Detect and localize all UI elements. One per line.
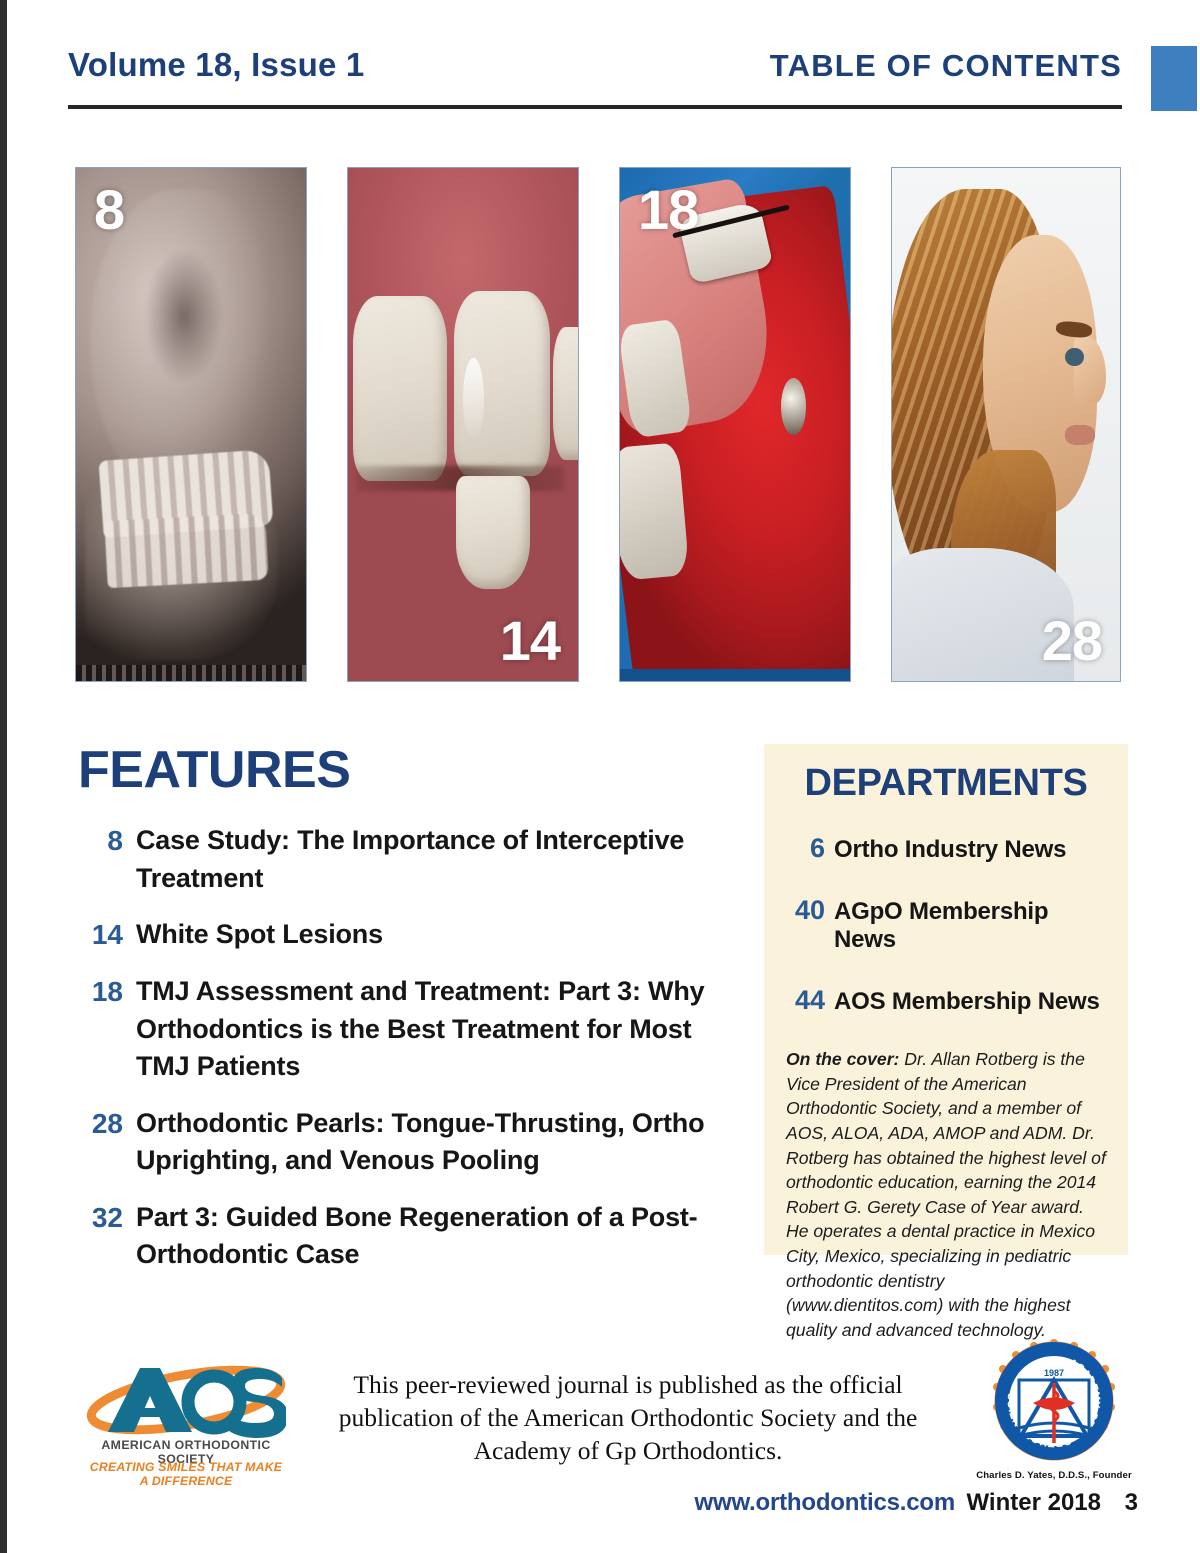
departments-list-item[interactable]: 6 Ortho Industry News	[786, 833, 1106, 864]
publication-statement: This peer-reviewed journal is published …	[296, 1368, 960, 1467]
website-link[interactable]: www.orthodontics.com	[695, 1489, 955, 1517]
feature-page-number: 32	[78, 1199, 136, 1237]
features-list-item[interactable]: 8 Case Study: The Importance of Intercep…	[78, 822, 738, 897]
mini-implant-screw	[781, 378, 806, 434]
department-page-number: 6	[786, 833, 834, 864]
page-bleed-strip	[0, 0, 7, 1553]
department-title: Ortho Industry News	[834, 836, 1066, 864]
feature-page-number: 8	[78, 822, 136, 860]
feature-title: Orthodontic Pearls: Tongue-Thrusting, Or…	[136, 1105, 738, 1180]
thumbnail-page-number: 28	[1042, 613, 1102, 669]
page-header: Volume 18, Issue 1 TABLE OF CONTENTS	[68, 46, 1122, 108]
features-section: FEATURES 8 Case Study: The Importance of…	[78, 744, 738, 1293]
thumbnail-tmj-intraoral-bracket[interactable]: 18	[619, 167, 851, 682]
thumbnail-patient-profile-portrait[interactable]: 28	[891, 167, 1121, 682]
agpo-founder-line: Charles D. Yates, D.D.S., Founder	[975, 1470, 1133, 1481]
tooth-lower	[456, 476, 530, 589]
department-page-number: 40	[786, 895, 834, 926]
issue-label: Volume 18, Issue 1	[68, 46, 364, 84]
page-title: TABLE OF CONTENTS	[770, 48, 1122, 84]
departments-list-item[interactable]: 44 AOS Membership News	[786, 985, 1106, 1016]
feature-page-number: 14	[78, 916, 136, 954]
feature-page-number: 18	[78, 973, 136, 1011]
feature-title: TMJ Assessment and Treatment: Part 3: Wh…	[136, 973, 738, 1086]
thumbnail-white-spot-lesion-teeth[interactable]: 14	[347, 167, 579, 682]
thumbnail-strip: 8 14 18 28	[75, 167, 1121, 682]
feature-title: Case Study: The Importance of Intercepti…	[136, 822, 738, 897]
thumbnail-page-number: 18	[638, 182, 698, 238]
departments-panel: DEPARTMENTS 6 Ortho Industry News 40 AGp…	[764, 744, 1128, 1255]
thumbnail-page-number: 14	[500, 613, 560, 669]
tooth-upper-left	[353, 296, 447, 481]
feature-page-number: 28	[78, 1105, 136, 1143]
feature-title: Part 3: Guided Bone Regeneration of a Po…	[136, 1199, 738, 1274]
agpo-logo[interactable]: ACADEMY OF Gp ORTHODONTICS 1987 Charles …	[975, 1339, 1133, 1481]
agpo-seal-icon: ACADEMY OF Gp ORTHODONTICS 1987	[975, 1339, 1133, 1467]
header-accent-square	[1151, 46, 1197, 111]
radiograph-scale-strip	[76, 665, 306, 681]
eye	[1065, 348, 1083, 366]
features-list-item[interactable]: 28 Orthodontic Pearls: Tongue-Thrusting,…	[78, 1105, 738, 1180]
issue-date: Winter 2018	[966, 1489, 1101, 1517]
aos-tagline: CREATING SMILES THAT MAKE A DIFFERENCE	[86, 1460, 286, 1488]
features-list-item[interactable]: 32 Part 3: Guided Bone Regeneration of a…	[78, 1199, 738, 1274]
footer-bar: www.orthodontics.com Winter 2018 3	[0, 1489, 1200, 1529]
tooth-highlight	[463, 358, 484, 440]
page-number: 3	[1125, 1489, 1138, 1517]
cover-note-body: Dr. Allan Rotberg is the Vice President …	[786, 1049, 1106, 1340]
features-list-item[interactable]: 14 White Spot Lesions	[78, 916, 738, 954]
cover-note: On the cover: Dr. Allan Rotberg is the V…	[786, 1047, 1106, 1343]
thumbnail-page-number: 8	[94, 182, 124, 238]
radiograph-lower-teeth	[104, 513, 268, 588]
features-heading: FEATURES	[78, 744, 738, 796]
image-footer-band	[620, 669, 850, 681]
aos-wordmark-icon	[86, 1360, 286, 1440]
tooth-lower	[619, 442, 690, 581]
departments-heading: DEPARTMENTS	[786, 762, 1106, 805]
department-title: AGpO Membership News	[834, 898, 1106, 954]
aos-logo[interactable]: AMERICAN ORTHODONTIC SOCIETY CREATING SM…	[86, 1360, 286, 1482]
header-divider	[68, 105, 1122, 109]
department-title: AOS Membership News	[834, 988, 1100, 1016]
features-list-item[interactable]: 18 TMJ Assessment and Treatment: Part 3:…	[78, 973, 738, 1086]
thumbnail-cephalometric-radiograph[interactable]: 8	[75, 167, 307, 682]
lips	[1065, 425, 1095, 446]
feature-title: White Spot Lesions	[136, 916, 383, 954]
department-page-number: 44	[786, 985, 834, 1016]
departments-list-item[interactable]: 40 AGpO Membership News	[786, 895, 1106, 954]
cover-note-lead: On the cover:	[786, 1049, 899, 1069]
tooth-upper-lateral	[553, 327, 579, 460]
